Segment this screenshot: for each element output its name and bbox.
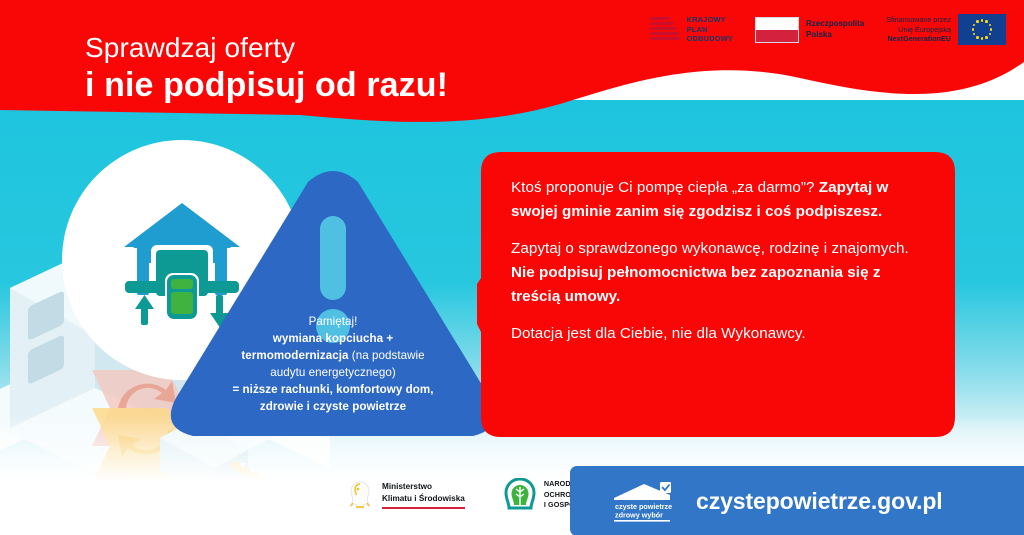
website-bar[interactable]: czyste powietrze zdrowy wybór czystepowi… (570, 466, 1024, 535)
bubble-paragraph: Dotacja jest dla Ciebie, nie dla Wykonaw… (511, 322, 929, 346)
text-bold: termomodernizacja (241, 349, 348, 362)
eu-star (973, 24, 976, 27)
website-url[interactable]: czystepowietrze.gov.pl (696, 488, 943, 515)
kpo-logo: KRAJOWY PLAN ODBUDOWY (650, 15, 733, 44)
cp-logo-line-2: zdrowy wybór (615, 511, 663, 520)
eu-funding-logo: Sfinansowane przez Unię Europejską NextG… (886, 14, 1006, 45)
eu-star (989, 33, 992, 36)
eu-star (989, 24, 992, 27)
warning-triangle-card: Pamiętaj! wymiana kopciucha + termomoder… (168, 160, 498, 450)
eu-flag-icon (958, 14, 1006, 45)
bubble-paragraph: Zapytaj o sprawdzonego wykonawcę, rodzin… (511, 237, 929, 309)
ministry-logo-text: Ministerstwo Klimatu i Środowiska (382, 481, 465, 509)
eu-star (985, 36, 988, 39)
text-regular: audytu energetycznego) (270, 366, 396, 379)
infographic-poster: Pamiętaj! wymiana kopciucha + termomoder… (0, 0, 1024, 535)
eu-line-3: NextGenerationEU (887, 34, 951, 43)
text-bold: wymiana kopciucha + (273, 332, 393, 345)
title-line-2: i nie podpisuj od razu! (85, 67, 448, 104)
eu-star (985, 20, 988, 23)
polish-eagle-icon (345, 479, 375, 511)
triangle-message: Pamiętaj! wymiana kopciucha + termomoder… (188, 314, 478, 416)
eu-star (990, 28, 993, 31)
ministry-line-2: Klimatu i Środowiska (382, 493, 465, 504)
text-regular: (na podstawie (349, 349, 425, 362)
ministry-rule (382, 507, 465, 509)
eu-star (981, 37, 984, 40)
kpo-line-3: ODBUDOWY (687, 34, 733, 44)
eu-star (973, 33, 976, 36)
czyste-powietrze-house-icon: czyste powietrze zdrowy wybór (610, 480, 682, 522)
top-logo-strip: KRAJOWY PLAN ODBUDOWY Rzeczpospolita Pol… (650, 14, 1006, 45)
eu-star (976, 20, 979, 23)
bubble-paragraph: Ktoś proponuje Ci pompę ciepła „za darmo… (511, 176, 929, 224)
kpo-line-1: KRAJOWY (687, 15, 733, 25)
text-regular: Dotacja jest dla Ciebie, nie dla Wykonaw… (511, 325, 806, 342)
triangle-line: audytu energetycznego) (188, 365, 478, 382)
eu-star (976, 36, 979, 39)
page-title: Sprawdzaj oferty i nie podpisuj od razu! (85, 33, 448, 104)
text-bold: zdrowie i czyste powietrze (260, 400, 406, 413)
triangle-line: zdrowie i czyste powietrze (188, 399, 478, 416)
poland-line-2: Polska (806, 30, 864, 41)
bubble-message: Ktoś proponuje Ci pompę ciepła „za darmo… (511, 176, 929, 346)
poland-logo-text: Rzeczpospolita Polska (806, 19, 864, 40)
poland-line-1: Rzeczpospolita (806, 19, 864, 30)
text-bold: = niższe rachunki, komfortowy dom, (232, 383, 433, 396)
title-line-1: Sprawdzaj oferty (85, 33, 448, 63)
poland-flag-icon (755, 17, 799, 43)
eu-star (981, 19, 984, 22)
triangle-line: termomodernizacja (na podstawie (188, 348, 478, 365)
kpo-steps-icon (650, 15, 680, 43)
eu-line-1: Sfinansowane przez (886, 15, 951, 25)
eu-line-2: Unię Europejską (886, 25, 951, 35)
text-regular: Ktoś proponuje Ci pompę ciepła „za darmo… (511, 179, 819, 196)
eu-star (972, 28, 975, 31)
kpo-logo-text: KRAJOWY PLAN ODBUDOWY (687, 15, 733, 44)
triangle-line: = niższe rachunki, komfortowy dom, (188, 382, 478, 399)
triangle-line: Pamiętaj! (188, 314, 478, 331)
poland-logo: Rzeczpospolita Polska (755, 17, 864, 43)
text-regular: Zapytaj o sprawdzonego wykonawcę, rodzin… (511, 240, 909, 257)
ministry-line-1: Ministerstwo (382, 481, 465, 492)
eu-logo-text: Sfinansowane przez Unię Europejską NextG… (886, 15, 951, 44)
triangle-line: wymiana kopciucha + (188, 331, 478, 348)
nfosigw-tree-icon (503, 478, 537, 512)
text-bold: Nie podpisuj pełnomocnictwa bez zapoznan… (511, 264, 881, 305)
ministry-logo: Ministerstwo Klimatu i Środowiska (345, 479, 465, 511)
kpo-line-2: PLAN (687, 25, 733, 35)
red-speech-bubble: Ktoś proponuje Ci pompę ciepła „za darmo… (477, 152, 955, 437)
text-regular: Pamiętaj! (309, 315, 358, 328)
